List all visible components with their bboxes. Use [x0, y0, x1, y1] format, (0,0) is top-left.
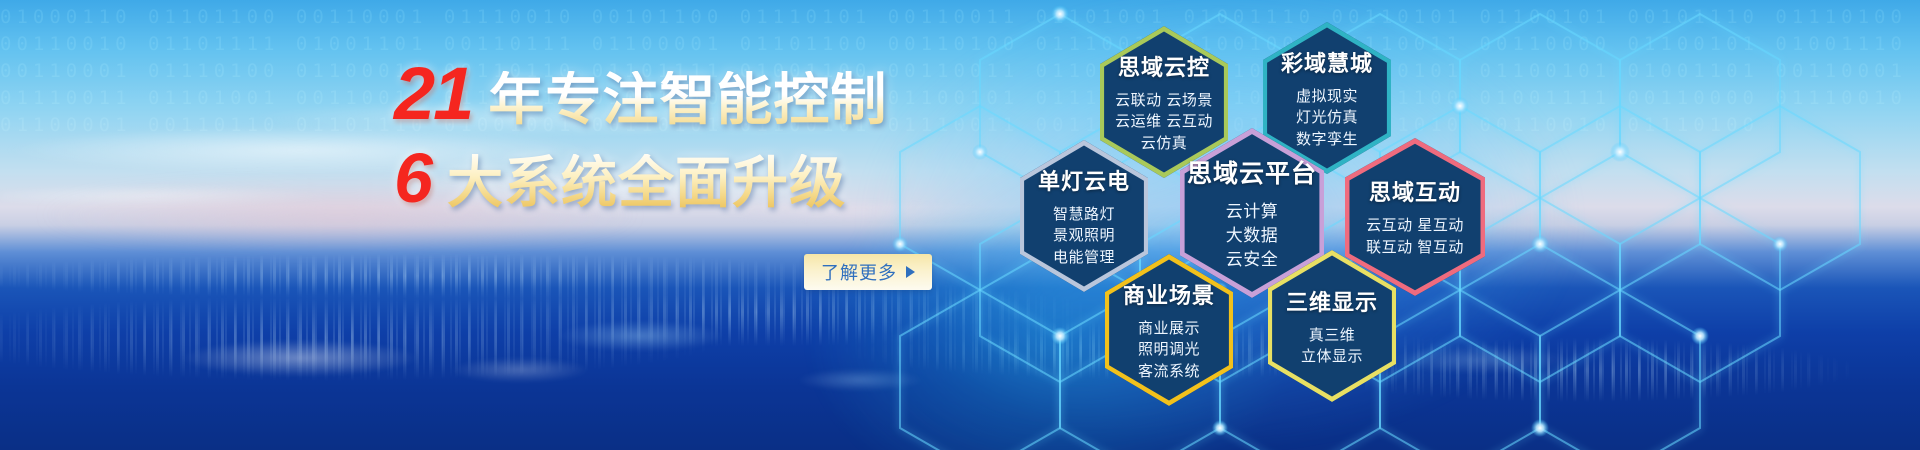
hex-item: 立体显示: [1286, 346, 1378, 367]
hex-item: 智慧路灯: [1038, 204, 1130, 225]
hex-title: 彩域慧城: [1281, 46, 1373, 78]
hex-title: 思域云平台: [1187, 154, 1317, 190]
hex-items: 云计算 大数据 云安全: [1187, 200, 1317, 272]
hex-card-shangye-changjing[interactable]: 商业场景 商业展示 照明调光 客流系统: [1105, 254, 1233, 406]
hex-item: 大数据: [1187, 224, 1317, 248]
hex-item: 云安全: [1187, 248, 1317, 272]
hex-item: 真三维: [1286, 325, 1378, 346]
hex-items: 云互动 星互动 联互动 智互动: [1366, 215, 1464, 259]
hex-title: 思域云控: [1115, 50, 1213, 82]
hex-items: 真三维 立体显示: [1286, 325, 1378, 368]
hex-items: 虚拟现实 灯光仿真 数字孪生: [1281, 86, 1373, 150]
hex-items: 智慧路灯 景观照明 电能管理: [1038, 204, 1130, 268]
hex-item: 景观照明: [1038, 225, 1130, 246]
hex-title: 三维显示: [1286, 285, 1378, 317]
hex-title: 思域互动: [1366, 175, 1464, 207]
hex-item: 云互动 星互动: [1366, 215, 1464, 237]
hex-item: 灯光仿真: [1281, 107, 1373, 128]
hex-items: 云联动 云场景 云运维 云互动 云仿真: [1115, 90, 1213, 154]
hex-item: 虚拟现实: [1281, 86, 1373, 107]
hex-item: 云计算: [1187, 200, 1317, 224]
hex-item: 云运维 云互动: [1115, 111, 1213, 132]
hex-item: 商业展示: [1123, 318, 1215, 339]
hex-item: 照明调光: [1123, 339, 1215, 360]
hex-card-sanwei-xianshi[interactable]: 三维显示 真三维 立体显示: [1268, 250, 1396, 402]
hexagon-diagram: 思域云控 云联动 云场景 云运维 云互动 云仿真 彩域慧城 虚拟现实 灯光仿真 …: [0, 0, 1920, 450]
hex-item: 云仿真: [1115, 133, 1213, 154]
hex-item: 云联动 云场景: [1115, 90, 1213, 111]
hex-item: 数字孪生: [1281, 129, 1373, 150]
hex-items: 商业展示 照明调光 客流系统: [1123, 318, 1215, 382]
hex-title: 商业场景: [1123, 278, 1215, 310]
hex-title: 单灯云电: [1038, 164, 1130, 196]
hex-item: 联互动 智互动: [1366, 237, 1464, 259]
hex-item: 客流系统: [1123, 361, 1215, 382]
promo-banner: 01000110 01101100 00110001 01110010 0010…: [0, 0, 1920, 450]
hex-item: 电能管理: [1038, 247, 1130, 268]
